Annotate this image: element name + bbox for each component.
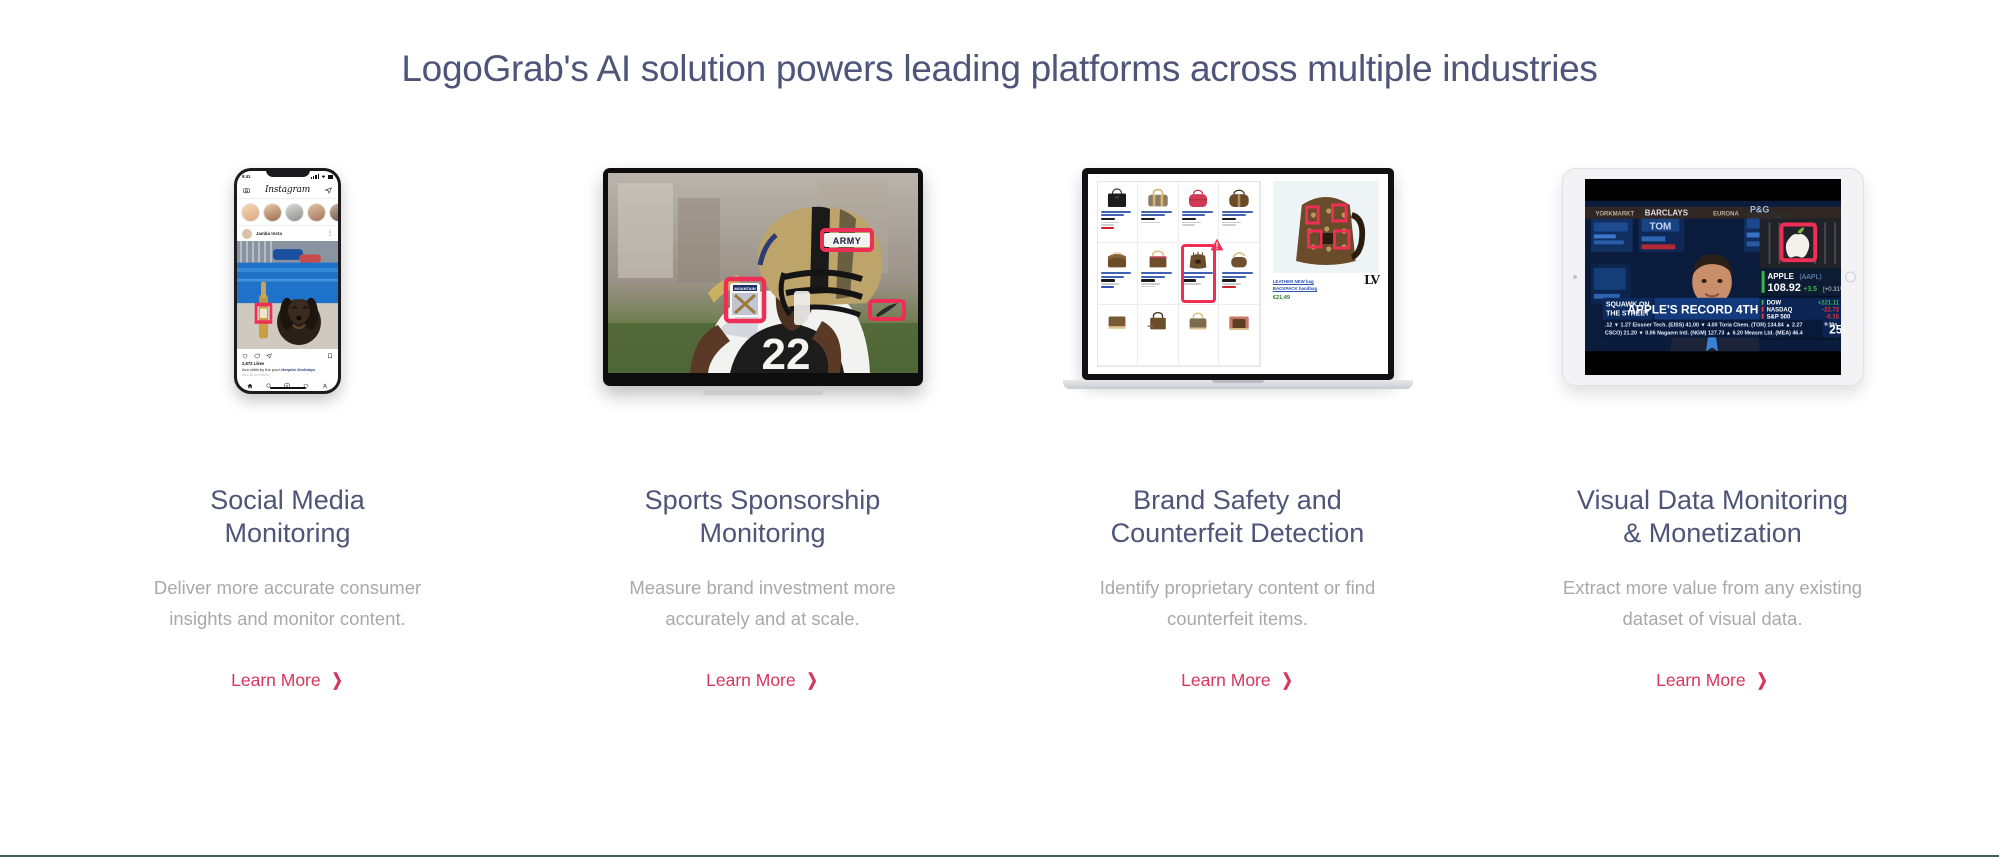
card-title-line-2: Counterfeit Detection xyxy=(1111,518,1365,548)
phone-notch xyxy=(266,168,310,177)
feature-card-grid: 9:41 xyxy=(60,168,1940,691)
quote-name: APPLE xyxy=(1767,272,1793,281)
news-broadcast-art: TOM BARCLAYS YORKMARKT EURONA P&G xyxy=(1585,179,1841,375)
chevron-right-icon: ❯ xyxy=(331,672,342,689)
card-title-line-2: & Monetization xyxy=(1623,518,1802,548)
page-title: LogoGrab's AI solution powers leading pl… xyxy=(0,46,1999,92)
instagram-logo: Instagram xyxy=(265,185,310,195)
feature-card-social-media-monitoring: 9:41 xyxy=(60,168,515,691)
brand-logo-icon: LV xyxy=(1364,273,1378,289)
card-title: Visual Data Monitoring & Monetization xyxy=(1577,484,1848,550)
device-mockup-laptop: LEATHER NEW bag BACKPACK handbag €21,49 … xyxy=(1010,168,1465,430)
card-description-line-2: dataset of visual data. xyxy=(1623,608,1803,629)
instagram-top-bar: Instagram xyxy=(237,182,338,199)
learn-more-label: Learn More xyxy=(231,670,321,691)
card-title: Social Media Monitoring xyxy=(210,484,365,550)
learn-more-label: Learn More xyxy=(1181,670,1271,691)
ticker-row-1: .12 ▼ 1.27 Eissner Tech. (EISS) 41.00 ▼ … xyxy=(1604,322,1802,328)
laptop-screen: LEATHER NEW bag BACKPACK handbag €21,49 … xyxy=(1088,174,1388,374)
tablet-screen: TOM BARCLAYS YORKMARKT EURONA P&G xyxy=(1585,179,1841,375)
product-cell[interactable] xyxy=(1138,243,1179,304)
product-cell[interactable] xyxy=(1179,182,1220,243)
index-value: -22.72 xyxy=(1822,308,1840,314)
home-indicator xyxy=(270,387,306,389)
product-grid-row xyxy=(1098,243,1260,304)
card-title-line-1: Sports Sponsorship xyxy=(645,485,881,515)
svg-text:BARCLAYS: BARCLAYS xyxy=(1644,209,1687,218)
story-avatar[interactable] xyxy=(329,203,338,222)
smartphone-frame: 9:41 xyxy=(234,168,341,394)
device-mockup-smartphone: 9:41 xyxy=(60,168,515,430)
card-description-line-1: Measure brand investment more xyxy=(629,577,895,598)
product-cell[interactable] xyxy=(1138,305,1179,366)
camera-icon[interactable] xyxy=(243,181,250,199)
learn-more-link[interactable]: Learn More ❯ xyxy=(231,670,344,691)
story-avatar[interactable] xyxy=(263,203,282,222)
post-author-row: Jamba Insta ⋮ xyxy=(237,226,338,241)
svg-text:MOUNTAIN: MOUNTAIN xyxy=(734,286,755,291)
product-grid-row xyxy=(1098,182,1260,243)
caption-hashtags[interactable]: #tequila #holidays xyxy=(281,367,316,372)
laptop-base xyxy=(1063,380,1413,389)
product-cell[interactable] xyxy=(1179,305,1220,366)
instagram-bottom-nav xyxy=(237,378,338,391)
television-stand xyxy=(703,390,823,395)
tablet-camera-icon xyxy=(1573,275,1577,279)
add-post-icon[interactable] xyxy=(284,376,290,392)
chevron-right-icon: ❯ xyxy=(1756,672,1767,689)
ticker-row-2: CSCO) 21.20 ▼ 0.06 Nagaem Intl. (NGM) 12… xyxy=(1604,330,1802,336)
post-username[interactable]: Jamba Insta xyxy=(256,231,282,236)
product-cell[interactable] xyxy=(1219,243,1260,304)
product-cell[interactable] xyxy=(1098,182,1139,243)
card-description: Identify proprietary content or find cou… xyxy=(1100,572,1376,634)
instagram-stories-row[interactable] xyxy=(237,199,338,226)
card-description: Extract more value from any existing dat… xyxy=(1563,572,1862,634)
feature-card-sports-sponsorship-monitoring: 22 xyxy=(535,168,990,691)
backpack-art xyxy=(1273,181,1379,273)
product-cell[interactable] xyxy=(1138,182,1179,243)
learn-more-link[interactable]: Learn More ❯ xyxy=(1181,670,1294,691)
feature-card-visual-data-monitoring-monetization: TOM BARCLAYS YORKMARKT EURONA P&G xyxy=(1485,168,1940,691)
device-mockup-tablet: TOM BARCLAYS YORKMARKT EURONA P&G xyxy=(1485,168,1940,430)
card-description-line-2: accurately and at scale. xyxy=(665,608,859,629)
post-photo-art xyxy=(237,241,338,349)
search-icon[interactable] xyxy=(266,376,272,392)
quote-symbol: (AAPL) xyxy=(1799,274,1821,281)
card-title-line-1: Visual Data Monitoring xyxy=(1577,485,1848,515)
status-indicators xyxy=(311,174,333,179)
learn-more-link[interactable]: Learn More ❯ xyxy=(1656,670,1769,691)
learn-more-label: Learn More xyxy=(1656,670,1746,691)
card-description-line-1: Identify proprietary content or find xyxy=(1100,577,1376,598)
product-grid-row xyxy=(1098,305,1260,366)
card-title-line-2: Monitoring xyxy=(224,518,350,548)
index-value: +221.11 xyxy=(1817,301,1839,307)
product-detail-price: €21,49 xyxy=(1273,295,1317,301)
index-name: NASDAQ xyxy=(1766,308,1792,314)
laptop-frame: LEATHER NEW bag BACKPACK handbag €21,49 … xyxy=(1082,168,1394,380)
detail-title-line-1: LEATHER NEW bag xyxy=(1273,279,1314,284)
product-cell[interactable] xyxy=(1219,182,1260,243)
product-cell[interactable] xyxy=(1219,305,1260,366)
svg-text:P&G: P&G xyxy=(1749,205,1768,215)
detail-title-line-2: BACKPACK handbag xyxy=(1273,286,1317,291)
ecommerce-page: LEATHER NEW bag BACKPACK handbag €21,49 … xyxy=(1088,174,1388,374)
product-cell-flagged[interactable] xyxy=(1179,243,1220,304)
send-icon[interactable] xyxy=(325,181,332,199)
tablet-frame: TOM BARCLAYS YORKMARKT EURONA P&G xyxy=(1562,168,1864,386)
card-title: Sports Sponsorship Monitoring xyxy=(645,484,881,550)
card-title-line-1: Social Media xyxy=(210,485,365,515)
post-actions xyxy=(237,349,338,361)
svg-text:ARMY: ARMY xyxy=(832,236,861,246)
home-icon[interactable] xyxy=(247,376,253,392)
warning-triangle-icon xyxy=(1210,238,1224,251)
television-screen: 22 xyxy=(608,173,918,373)
product-detail-title[interactable]: LEATHER NEW bag BACKPACK handbag xyxy=(1273,279,1317,292)
post-photo xyxy=(237,241,338,349)
feature-card-brand-safety-counterfeit-detection: LEATHER NEW bag BACKPACK handbag €21,49 … xyxy=(1010,168,1465,691)
industries-section: LogoGrab's AI solution powers leading pl… xyxy=(0,0,1999,857)
clock: 9:30a xyxy=(1824,322,1837,328)
svg-text:TOM: TOM xyxy=(1649,221,1671,232)
detection-box xyxy=(1181,244,1217,302)
product-detail-pane: LEATHER NEW bag BACKPACK handbag €21,49 … xyxy=(1269,181,1379,367)
football-broadcast-art: 22 xyxy=(608,173,918,373)
story-avatar[interactable] xyxy=(307,203,326,222)
product-cell[interactable] xyxy=(1098,305,1139,366)
tablet-home-button[interactable] xyxy=(1845,272,1856,283)
caption-text: Avo chills by the pool xyxy=(242,367,280,372)
svg-text:22: 22 xyxy=(761,330,810,373)
svg-text:EURONA: EURONA xyxy=(1713,212,1739,218)
quote-percent: [+0.31%] xyxy=(1823,287,1841,293)
chevron-right-icon: ❯ xyxy=(1281,672,1292,689)
card-description-line-1: Extract more value from any existing xyxy=(1563,577,1862,598)
heart-icon[interactable] xyxy=(303,376,309,392)
device-mockup-television: 22 xyxy=(535,168,990,430)
learn-more-link[interactable]: Learn More ❯ xyxy=(706,670,819,691)
television-frame: 22 xyxy=(603,168,923,386)
phone-screen: 9:41 xyxy=(237,171,338,391)
card-title-line-1: Brand Safety and xyxy=(1133,485,1342,515)
product-grid xyxy=(1097,181,1261,367)
story-avatar[interactable] xyxy=(285,203,304,222)
chevron-right-icon: ❯ xyxy=(806,672,817,689)
story-avatar[interactable] xyxy=(241,203,260,222)
quote-change: +3.5 xyxy=(1803,286,1817,293)
quote-price: 108.92 xyxy=(1767,282,1800,294)
learn-more-label: Learn More xyxy=(706,670,796,691)
card-title: Brand Safety and Counterfeit Detection xyxy=(1111,484,1365,550)
profile-icon[interactable] xyxy=(322,376,328,392)
avatar xyxy=(242,229,252,239)
product-cell[interactable] xyxy=(1098,243,1139,304)
card-description-line-2: insights and monitor content. xyxy=(169,608,406,629)
product-detail-image xyxy=(1273,181,1379,273)
index-name: DOW xyxy=(1766,301,1781,307)
card-description-line-1: Deliver more accurate consumer xyxy=(154,577,421,598)
card-description: Deliver more accurate consumer insights … xyxy=(154,572,421,634)
status-time: 9:41 xyxy=(242,174,250,179)
svg-text:YORKMARKT: YORKMARKT xyxy=(1595,212,1634,218)
card-description: Measure brand investment more accurately… xyxy=(629,572,895,634)
card-title-line-2: Monitoring xyxy=(699,518,825,548)
card-description-line-2: counterfeit items. xyxy=(1167,608,1308,629)
